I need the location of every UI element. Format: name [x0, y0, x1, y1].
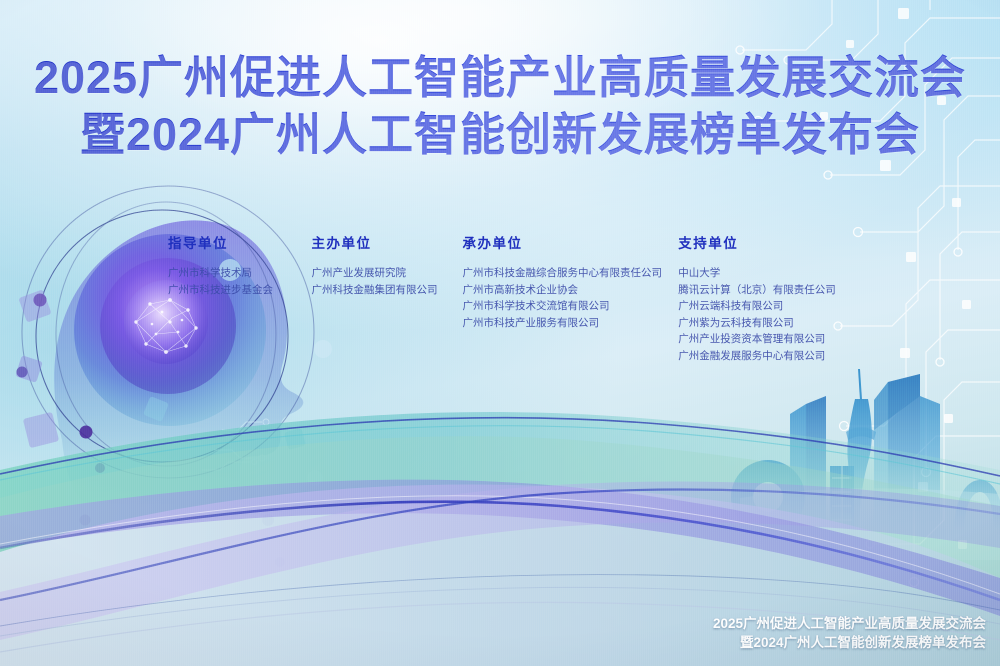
event-title: 2025广州促进人工智能产业高质量发展交流会 暨2024广州人工智能创新发展榜单… — [0, 52, 1000, 161]
org-heading: 支持单位 — [678, 232, 854, 252]
org-item: 广州产业发展研究院 — [312, 265, 449, 282]
org-item: 广州科技金融集团有限公司 — [312, 282, 449, 299]
org-item: 广州市科技金融综合服务中心有限责任公司 — [462, 265, 664, 282]
conference-backdrop: 2025广州促进人工智能产业高质量发展交流会 暨2024广州人工智能创新发展榜单… — [0, 0, 1000, 666]
org-item: 中山大学 — [678, 265, 854, 282]
org-item: 腾讯云计算（北京）有限责任公司 — [678, 282, 854, 299]
footer-title: 2025广州促进人工智能产业高质量发展交流会 暨2024广州人工智能创新发展榜单… — [713, 614, 986, 652]
org-heading: 主办单位 — [312, 232, 449, 252]
footer-line-2: 暨2024广州人工智能创新发展榜单发布会 — [713, 633, 986, 652]
org-column-guidance: 指导单位 广州市科学技术局 广州市科技进步基金会 — [168, 232, 312, 364]
org-item: 广州市科技产业服务有限公司 — [462, 315, 664, 332]
footer-line-1: 2025广州促进人工智能产业高质量发展交流会 — [713, 614, 986, 633]
org-item: 广州金融发展服务中心有限公司 — [678, 348, 854, 365]
org-column-support: 支持单位 中山大学 腾讯云计算（北京）有限责任公司 广州云端科技有限公司 广州紫… — [678, 232, 868, 364]
org-item: 广州云端科技有限公司 — [678, 298, 854, 315]
org-item: 广州市高新技术企业协会 — [462, 282, 664, 299]
title-line-2: 暨2024广州人工智能创新发展榜单发布会 — [0, 109, 1000, 160]
org-item: 广州市科学技术交流馆有限公司 — [462, 298, 664, 315]
org-column-undertaker: 承办单位 广州市科技金融综合服务中心有限责任公司 广州市高新技术企业协会 广州市… — [462, 232, 678, 364]
org-item: 广州市科技进步基金会 — [168, 282, 298, 299]
org-item: 广州市科学技术局 — [168, 265, 298, 282]
organization-columns: 指导单位 广州市科学技术局 广州市科技进步基金会 主办单位 广州产业发展研究院 … — [168, 232, 868, 364]
org-heading: 承办单位 — [462, 232, 664, 252]
org-column-host: 主办单位 广州产业发展研究院 广州科技金融集团有限公司 — [312, 232, 463, 364]
org-item: 广州产业投资资本管理有限公司 — [678, 331, 854, 348]
org-heading: 指导单位 — [168, 232, 298, 252]
org-item: 广州紫为云科技有限公司 — [678, 315, 854, 332]
title-line-1: 2025广州促进人工智能产业高质量发展交流会 — [0, 52, 1000, 103]
